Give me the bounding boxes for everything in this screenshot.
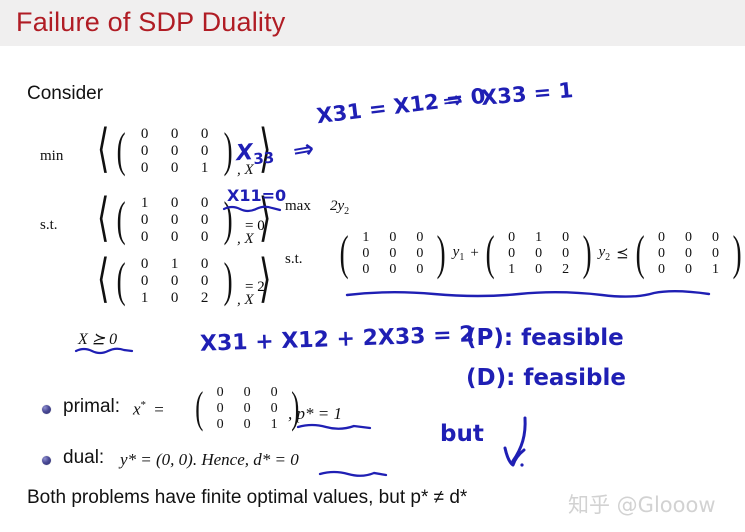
- primal-constraint1-matrix: 100 000 000: [130, 194, 220, 245]
- underline-psd: [74, 345, 136, 356]
- primal-objective-matrix: 000 000 001: [130, 125, 220, 176]
- dual-result-label: dual:: [63, 447, 104, 469]
- annotation-x33: X33: [235, 139, 274, 167]
- dual-constraint-expr: ( 100 000 000 ) y1 + ( 010 000 102 ) y2 …: [336, 224, 745, 282]
- primal-constraint2-matrix: 010 000 102: [130, 255, 220, 306]
- annotation-trace-equation: X31 + X12 + 2X33 = 2: [200, 322, 475, 357]
- annotation-implies-2: ⇒: [441, 87, 463, 115]
- down-arrow-icon: [495, 415, 545, 477]
- dual-matrix-a2: 010 000 102: [498, 229, 579, 277]
- primal-constraint2-rhs: = 2: [245, 279, 265, 296]
- underline-dual-constraint: [344, 288, 714, 302]
- dual-var2: y2: [595, 244, 613, 263]
- primal-min-label: min: [40, 148, 63, 165]
- dual-max-label: max: [285, 198, 311, 215]
- primal-result-matrix: 000 000 001: [207, 384, 288, 432]
- primal-result-matrix-expr: ( 000 000 001 ): [192, 383, 302, 433]
- primal-result-label: primal:: [63, 396, 120, 418]
- underline-d-star: [318, 468, 390, 480]
- slide-root: Failure of SDP Duality Consider min ⟨ ( …: [0, 0, 745, 532]
- dual-objective: 2y2: [330, 198, 349, 217]
- dual-matrix-a1: 100 000 000: [352, 229, 433, 277]
- bullet-marker-primal: [42, 405, 51, 414]
- preceq-symbol: ⪯: [613, 244, 632, 263]
- primal-st-label: s.t.: [40, 217, 58, 234]
- watermark: 知乎 @Glooow: [568, 489, 716, 519]
- primal-result-x: x* =: [133, 399, 164, 420]
- annotation-top-result: X33 = 1: [480, 78, 574, 110]
- dual-matrix-c: 000 000 001: [648, 229, 729, 277]
- annotation-implies-1: ⇒: [291, 133, 317, 165]
- bullet-marker-dual: [42, 456, 51, 465]
- conclusion-text: Both problems have finite optimal values…: [27, 487, 467, 509]
- page-title: Failure of SDP Duality: [16, 7, 286, 38]
- annotation-dual-feasible: (D): feasible: [466, 365, 626, 391]
- dual-st-label: s.t.: [285, 251, 303, 268]
- dual-optimal-value: y* = (0, 0). Hence, d* = 0: [120, 450, 299, 470]
- underline-x11: [222, 203, 284, 215]
- annotation-primal-feasible: (P): feasible: [466, 325, 624, 351]
- annotation-but: but: [440, 421, 484, 447]
- primal-constraint1-rhs: = 0: [245, 218, 265, 235]
- underline-p-star: [296, 421, 374, 433]
- intro-text: Consider: [27, 83, 103, 105]
- dual-var1: y1: [450, 244, 468, 263]
- dual-plus-sign: +: [467, 245, 481, 262]
